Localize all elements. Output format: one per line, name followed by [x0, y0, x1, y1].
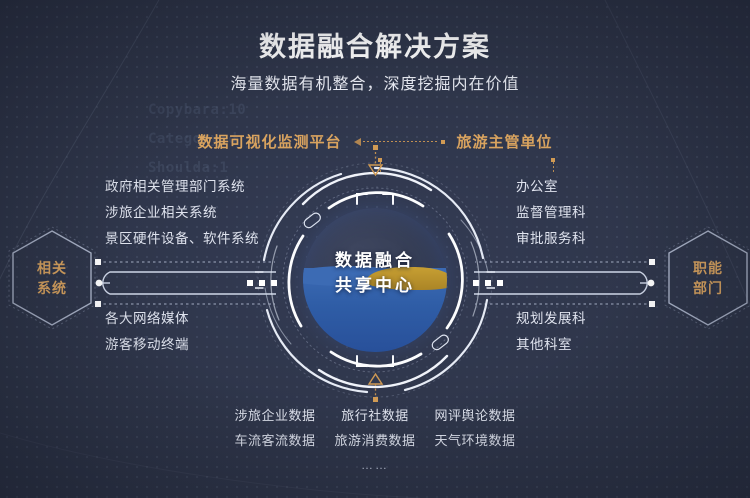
triangle-down-icon: [355, 143, 395, 183]
list-item: 其他科室: [516, 332, 572, 358]
list-item: 办公室: [516, 174, 558, 200]
data-fusion-hub[interactable]: 数据融合 共享中心: [255, 160, 495, 400]
right-top-department-list: 办公室 监督管理科 审批服务科: [516, 174, 586, 252]
grid-item: 旅游消费数据: [325, 430, 425, 449]
hexagon-functional-departments[interactable]: 职能 部门: [662, 226, 750, 330]
grid-item: 涉旅企业数据: [225, 405, 325, 424]
bottom-data-grid: 涉旅企业数据 旅行社数据 网评舆论数据 车流客流数据 旅游消费数据 天气环境数据: [225, 405, 525, 449]
list-item: 游客移动终端: [105, 332, 189, 358]
left-top-system-list: 政府相关管理部门系统 涉旅企业相关系统 景区硬件设备、软件系统: [105, 174, 259, 252]
list-item: 政府相关管理部门系统: [105, 174, 245, 200]
list-item: 审批服务科: [516, 226, 586, 252]
hub-label-line2: 共享中心: [255, 273, 495, 298]
hexagon-right-line2: 部门: [693, 278, 723, 298]
grid-item: 天气环境数据: [425, 430, 525, 449]
grid-item: 旅行社数据: [325, 405, 425, 424]
left-bottom-system-list: 各大网络媒体 游客移动终端: [105, 306, 189, 358]
list-item: 监督管理科: [516, 200, 586, 226]
list-item: 规划发展科: [516, 306, 586, 332]
grid-item: 网评舆论数据: [425, 405, 525, 424]
hexagon-left-line1: 相关: [37, 258, 67, 278]
grid-item: 车流客流数据: [225, 430, 325, 449]
list-item: 各大网络媒体: [105, 306, 189, 332]
triangle-up-icon: [355, 366, 395, 406]
list-item: 景区硬件设备、软件系统: [105, 226, 259, 252]
hexagon-left-line2: 系统: [37, 278, 67, 298]
hub-label-line1: 数据融合: [255, 248, 495, 273]
hexagon-related-systems[interactable]: 相关 系统: [6, 226, 98, 330]
list-item: 涉旅企业相关系统: [105, 200, 217, 226]
infographic-canvas: Copybara:10 Category:d Shoulda:1 pull 数据…: [0, 0, 750, 498]
bottom-ellipsis: ……: [0, 458, 750, 472]
hexagon-right-line1: 职能: [693, 258, 723, 278]
right-bottom-department-list: 规划发展科 其他科室: [516, 306, 586, 358]
hub-label: 数据融合 共享中心: [255, 248, 495, 298]
